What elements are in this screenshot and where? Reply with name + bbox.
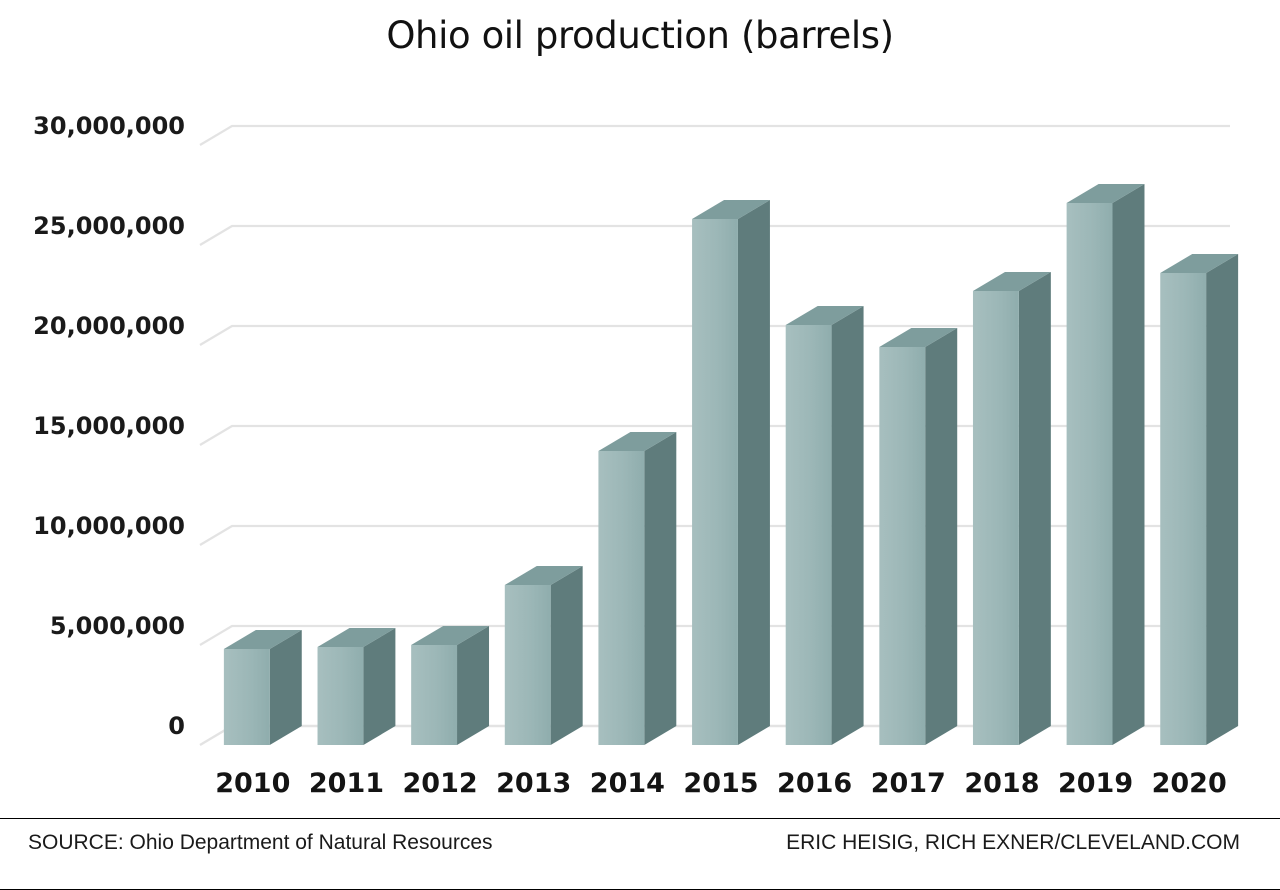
bar-side-face bbox=[1019, 272, 1051, 745]
x-tick-label-2019: 2019 bbox=[1058, 768, 1133, 799]
bar-2015[interactable] bbox=[692, 200, 770, 745]
bar-front-face bbox=[411, 645, 457, 745]
bar-front-face bbox=[786, 325, 832, 745]
bar-front-face bbox=[973, 291, 1019, 745]
bar-side-face bbox=[925, 328, 957, 745]
bar-side-face bbox=[644, 432, 676, 745]
y-tick-label: 30,000,000 bbox=[33, 112, 185, 140]
x-tick-label-2010: 2010 bbox=[215, 768, 290, 799]
bar-front-face bbox=[224, 649, 270, 745]
bar-2013[interactable] bbox=[505, 566, 583, 745]
bar-side-face bbox=[363, 628, 395, 745]
x-tick-label-2014: 2014 bbox=[590, 768, 665, 799]
source-note: SOURCE: Ohio Department of Natural Resou… bbox=[28, 831, 493, 855]
bar-side-face bbox=[457, 626, 489, 745]
bar-2016[interactable] bbox=[786, 306, 864, 745]
bar-side-face bbox=[738, 200, 770, 745]
bar-2012[interactable] bbox=[411, 626, 489, 745]
y-tick-label: 0 bbox=[168, 712, 185, 740]
bar-side-face bbox=[551, 566, 583, 745]
bar-front-face bbox=[1160, 273, 1206, 745]
bar-front-face bbox=[598, 451, 644, 745]
bar-front-face bbox=[692, 219, 738, 745]
bar-chart-canvas bbox=[0, 0, 1280, 820]
y-tick-label: 25,000,000 bbox=[33, 212, 185, 240]
bar-2017[interactable] bbox=[879, 328, 957, 745]
bar-front-face bbox=[879, 347, 925, 745]
bar-2011[interactable] bbox=[318, 628, 396, 745]
y-tick-label: 5,000,000 bbox=[50, 612, 185, 640]
x-tick-label-2017: 2017 bbox=[871, 768, 946, 799]
bar-2014[interactable] bbox=[598, 432, 676, 745]
bar-front-face bbox=[318, 647, 364, 745]
gridline-30000000 bbox=[200, 126, 1230, 145]
x-tick-label-2012: 2012 bbox=[403, 768, 478, 799]
bar-side-face bbox=[270, 630, 302, 745]
x-tick-label-2013: 2013 bbox=[496, 768, 571, 799]
x-tick-label-2016: 2016 bbox=[777, 768, 852, 799]
bar-side-face bbox=[1112, 184, 1144, 745]
bar-2019[interactable] bbox=[1067, 184, 1145, 745]
y-tick-label: 10,000,000 bbox=[33, 512, 185, 540]
x-tick-label-2020: 2020 bbox=[1152, 768, 1227, 799]
x-tick-label-2011: 2011 bbox=[309, 768, 384, 799]
footer: SOURCE: Ohio Department of Natural Resou… bbox=[0, 819, 1280, 890]
y-tick-label: 15,000,000 bbox=[33, 412, 185, 440]
plot-area bbox=[0, 0, 1280, 820]
x-tick-label-2015: 2015 bbox=[683, 768, 758, 799]
chart-figure: Ohio oil production (barrels) 05,000,000… bbox=[0, 0, 1280, 890]
bar-side-face bbox=[832, 306, 864, 745]
bar-front-face bbox=[505, 585, 551, 745]
x-tick-label-2018: 2018 bbox=[964, 768, 1039, 799]
credit-note: ERIC HEISIG, RICH EXNER/CLEVELAND.COM bbox=[786, 831, 1240, 855]
y-tick-label: 20,000,000 bbox=[33, 312, 185, 340]
bar-2020[interactable] bbox=[1160, 254, 1238, 745]
bars bbox=[224, 184, 1238, 745]
bar-2018[interactable] bbox=[973, 272, 1051, 745]
bar-2010[interactable] bbox=[224, 630, 302, 745]
bar-front-face bbox=[1067, 203, 1113, 745]
bar-side-face bbox=[1206, 254, 1238, 745]
